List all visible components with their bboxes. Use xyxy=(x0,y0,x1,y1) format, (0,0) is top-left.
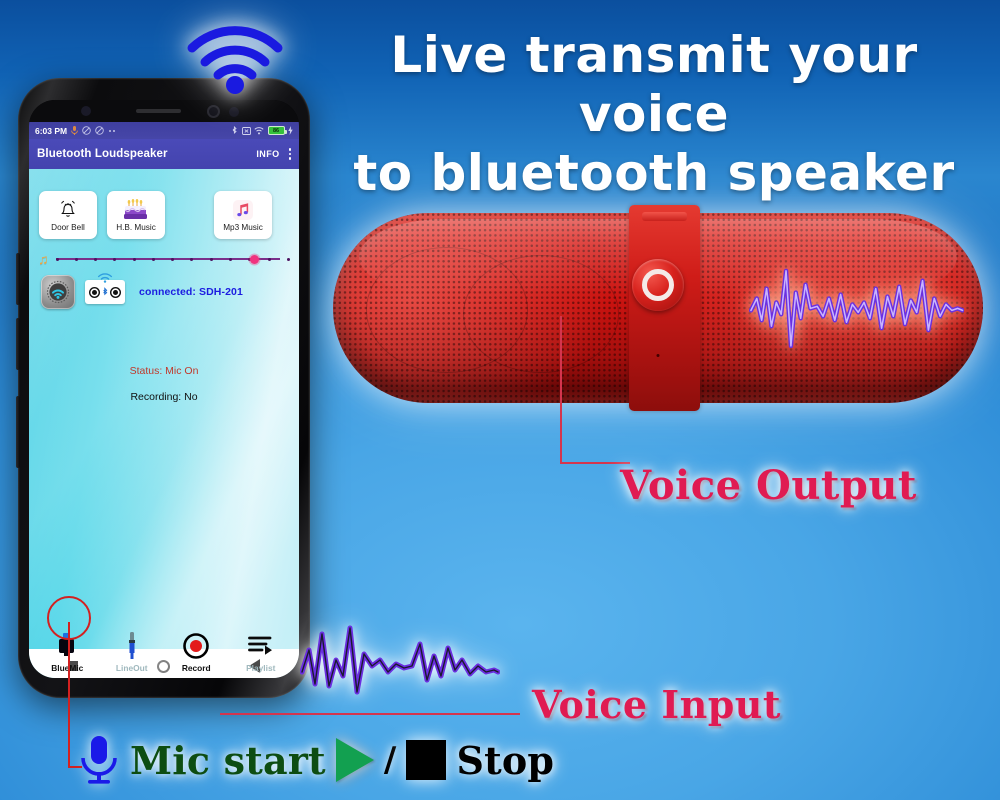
connection-status: connected: SDH-201 xyxy=(139,286,243,298)
stop-square-icon[interactable] xyxy=(406,740,446,780)
speaker-mic-pinhole xyxy=(657,354,660,357)
connection-row: connected: SDH-201 xyxy=(29,266,299,309)
voice-output-leader-line xyxy=(560,316,562,464)
screenshot-icon xyxy=(242,127,251,135)
volume-slider-thumb[interactable] xyxy=(250,255,259,264)
record-icon xyxy=(183,632,209,660)
separator-label: / xyxy=(384,740,397,780)
tile-label: Door Bell xyxy=(51,223,85,232)
battery-level: 86 xyxy=(273,128,279,134)
tile-mp3-music[interactable]: Mp3 Music xyxy=(214,191,272,239)
front-camera-icon xyxy=(207,105,220,118)
nav-label: Record xyxy=(182,663,211,673)
volume-down-button[interactable] xyxy=(16,318,20,370)
app-title: Bluetooth Loudspeaker xyxy=(37,148,168,160)
nav-label: Playlist xyxy=(246,663,275,673)
bluemic-highlight-ring xyxy=(47,596,91,640)
recording-text: Recording: No xyxy=(29,391,299,403)
bluetooth-device-icon[interactable] xyxy=(85,280,125,304)
app-bar: Bluetooth Loudspeaker INFO xyxy=(29,139,299,169)
stop-label: Stop xyxy=(456,738,554,783)
info-button[interactable]: INFO xyxy=(256,149,279,159)
page-title: Live transmit your voice to bluetooth sp… xyxy=(318,26,990,203)
promo-banner: Live transmit your voice to bluetooth sp… xyxy=(0,0,1000,800)
music-note-icon: ♫ xyxy=(38,252,49,266)
bluetooth-speaker xyxy=(333,213,983,403)
status-text: Status: Mic On xyxy=(29,365,299,377)
wifi-icon xyxy=(254,127,264,135)
mic-start-label: Mic start xyxy=(130,738,326,783)
driver-left xyxy=(89,287,100,298)
volume-slider[interactable] xyxy=(56,252,291,266)
earpiece-speaker xyxy=(136,109,181,113)
input-waveform xyxy=(300,620,500,700)
nav-item-playlist[interactable]: Playlist xyxy=(232,632,290,673)
mic-icon xyxy=(71,126,78,135)
driver-right xyxy=(110,287,121,298)
signal-icon xyxy=(97,270,113,288)
speaker-body xyxy=(333,213,983,403)
mute-icon xyxy=(95,126,104,135)
headline-line-2: to bluetooth speaker xyxy=(318,144,990,203)
bell-icon xyxy=(57,199,79,221)
play-triangle-icon[interactable] xyxy=(336,738,374,782)
power-button[interactable] xyxy=(16,396,20,468)
tile-label: Mp3 Music xyxy=(223,223,263,232)
phone-notch xyxy=(29,100,299,122)
battery-icon: 86 xyxy=(268,126,285,135)
voice-output-label: Voice Output xyxy=(620,462,917,509)
bluemic-leader-line xyxy=(68,622,70,768)
nav-item-lineout[interactable]: LineOut xyxy=(103,632,161,673)
playlist-icon xyxy=(248,632,274,660)
more-dots-icon xyxy=(108,129,117,133)
sound-tiles: Door Bell xyxy=(29,169,299,239)
volume-up-button[interactable] xyxy=(16,253,20,305)
tile-label: H.B. Music xyxy=(116,223,156,232)
microphone-icon xyxy=(78,734,120,786)
nav-label: LineOut xyxy=(116,663,148,673)
legend-row: Mic start / Stop xyxy=(78,734,554,786)
headphone-jack-icon xyxy=(124,632,140,660)
kebab-menu-icon[interactable] xyxy=(289,148,292,160)
bluetooth-icon xyxy=(231,126,238,136)
birthday-cake-icon xyxy=(123,199,149,221)
status-bar: 6:03 PM xyxy=(29,122,299,139)
voice-input-leader-line xyxy=(220,713,520,715)
voice-input-label: Voice Input xyxy=(532,682,781,727)
speaker-top-tab xyxy=(642,212,688,221)
phone-screen: 6:03 PM xyxy=(29,100,299,678)
sensor-icon xyxy=(81,106,91,116)
tile-door-bell[interactable]: Door Bell xyxy=(39,191,97,239)
charging-bolt-icon xyxy=(288,126,293,135)
iris-scanner-icon xyxy=(229,107,239,117)
status-block: Status: Mic On Recording: No xyxy=(29,309,299,403)
status-bar-time: 6:03 PM xyxy=(35,126,67,136)
do-not-disturb-icon xyxy=(82,126,91,135)
wifi-icon xyxy=(182,14,288,94)
speaker-wifi-icon[interactable] xyxy=(41,275,75,309)
output-waveform xyxy=(749,259,964,358)
bluetooth-icon xyxy=(102,287,108,298)
power-button[interactable] xyxy=(632,259,684,311)
music-note-icon xyxy=(232,199,254,221)
headline-line-1: Live transmit your voice xyxy=(390,26,917,143)
volume-slider-row: ♫ xyxy=(29,239,299,266)
nav-item-record[interactable]: Record xyxy=(167,632,225,673)
tile-hb-music[interactable]: H.B. Music xyxy=(107,191,165,239)
